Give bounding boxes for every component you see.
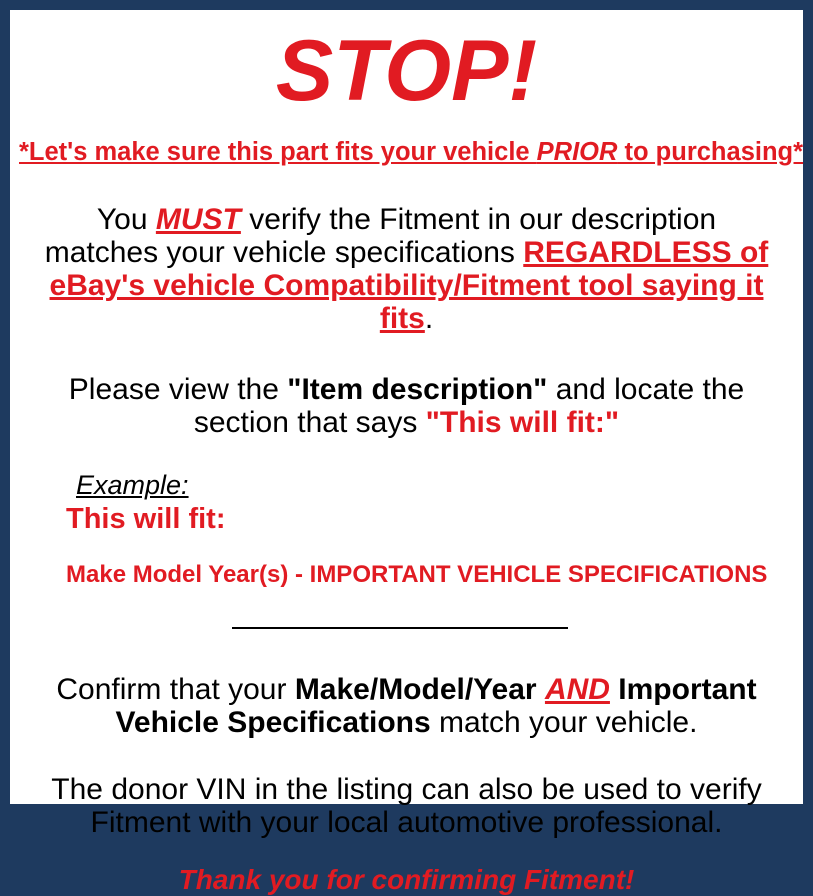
stop-heading: STOP! <box>19 10 794 114</box>
must-emphasis: MUST <box>156 203 241 236</box>
confirm-part1: Confirm that your <box>56 673 294 706</box>
must-paragraph: You MUST verify the Fitment in our descr… <box>19 167 794 335</box>
this-will-fit-emphasis: "This will fit:" <box>426 406 619 439</box>
horizontal-divider <box>232 627 568 629</box>
divider-wrap <box>19 589 794 637</box>
item-description-emphasis: "Item description" <box>287 373 547 406</box>
example-spec-line: Make Model Year(s) - IMPORTANT VEHICLE S… <box>66 535 794 588</box>
subtitle-suffix: to purchasing* <box>617 138 803 166</box>
subtitle-emphasis-prior: PRIOR <box>537 138 618 166</box>
confirm-part4: match your vehicle. <box>431 706 698 739</box>
confirm-paragraph: Confirm that your Make/Model/Year AND Im… <box>19 637 794 739</box>
subtitle-prefix: *Let's make sure this part fits your veh… <box>19 138 537 166</box>
make-model-year-emphasis: Make/Model/Year <box>295 673 537 706</box>
example-label: Example: <box>66 471 794 501</box>
please-paragraph: Please view the "Item description" and l… <box>19 335 794 439</box>
and-emphasis: AND <box>545 673 610 706</box>
subtitle-line: *Let's make sure this part fits your veh… <box>19 114 794 167</box>
notice-frame: STOP! *Let's make sure this part fits yo… <box>0 0 813 814</box>
example-block: Example: This will fit: Make Model Year(… <box>19 439 794 589</box>
must-part1: You <box>97 203 156 236</box>
vin-paragraph: The donor VIN in the listing can also be… <box>19 739 794 839</box>
notice-body: STOP! *Let's make sure this part fits yo… <box>10 10 803 804</box>
example-fit-label: This will fit: <box>66 501 794 535</box>
confirm-part2 <box>537 673 545 706</box>
thanks-line: Thank you for confirming Fitment! <box>19 839 794 896</box>
please-part1: Please view the <box>69 373 287 406</box>
must-part3: . <box>425 302 433 335</box>
